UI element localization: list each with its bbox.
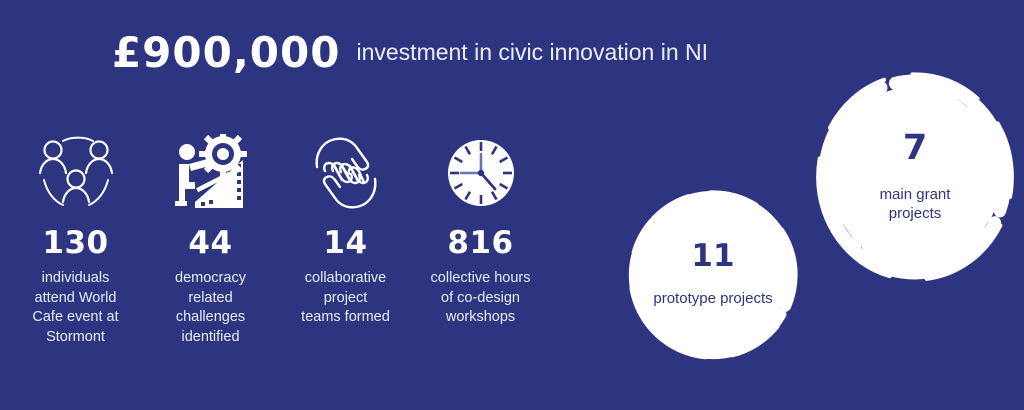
stat-item-hours: 816 collective hours of co-design worksh… (413, 130, 548, 328)
stat-label: collaborative project teams formed (297, 269, 394, 328)
circle-label: main grant projects (880, 186, 951, 224)
circle-number: 11 (691, 241, 734, 272)
stat-item-collaborative: 14 collaborative project teams formed (278, 130, 413, 328)
stat-number: 130 (42, 228, 108, 259)
circle-label: prototype projects (653, 290, 772, 309)
stat-label: individuals attend World Cafe event at S… (28, 269, 122, 347)
headline-description: investment in civic innovation in NI (356, 39, 708, 65)
infographic-canvas: £900,000investment in civic innovation i… (0, 0, 1024, 410)
circle-badge-prototype-projects: 11 prototype projects (622, 184, 804, 366)
clasped-hands-icon (303, 130, 389, 216)
headline-amount: £900,000 (112, 28, 341, 77)
stat-item-democracy: 44 democracy related challenges identifi… (143, 130, 278, 347)
person-gear-stairs-icon (171, 130, 251, 216)
circle-number: 7 (903, 131, 927, 166)
circle-content: 11 prototype projects (653, 241, 772, 309)
stat-item-individuals: 130 individuals attend World Cafe event … (8, 130, 143, 347)
stat-label: democracy related challenges identified (171, 269, 250, 347)
stats-row: 130 individuals attend World Cafe event … (8, 130, 548, 347)
clock-icon (445, 130, 517, 216)
circle-badge-main-grant-projects: 7 main grant projects (812, 68, 1018, 286)
stat-number: 44 (188, 228, 232, 259)
stat-number: 816 (447, 228, 513, 259)
circle-content: 7 main grant projects (880, 131, 951, 224)
stat-number: 14 (323, 228, 367, 259)
people-group-icon (30, 130, 122, 216)
stat-label: collective hours of co-design workshops (427, 269, 535, 328)
headline: £900,000investment in civic innovation i… (0, 28, 820, 77)
